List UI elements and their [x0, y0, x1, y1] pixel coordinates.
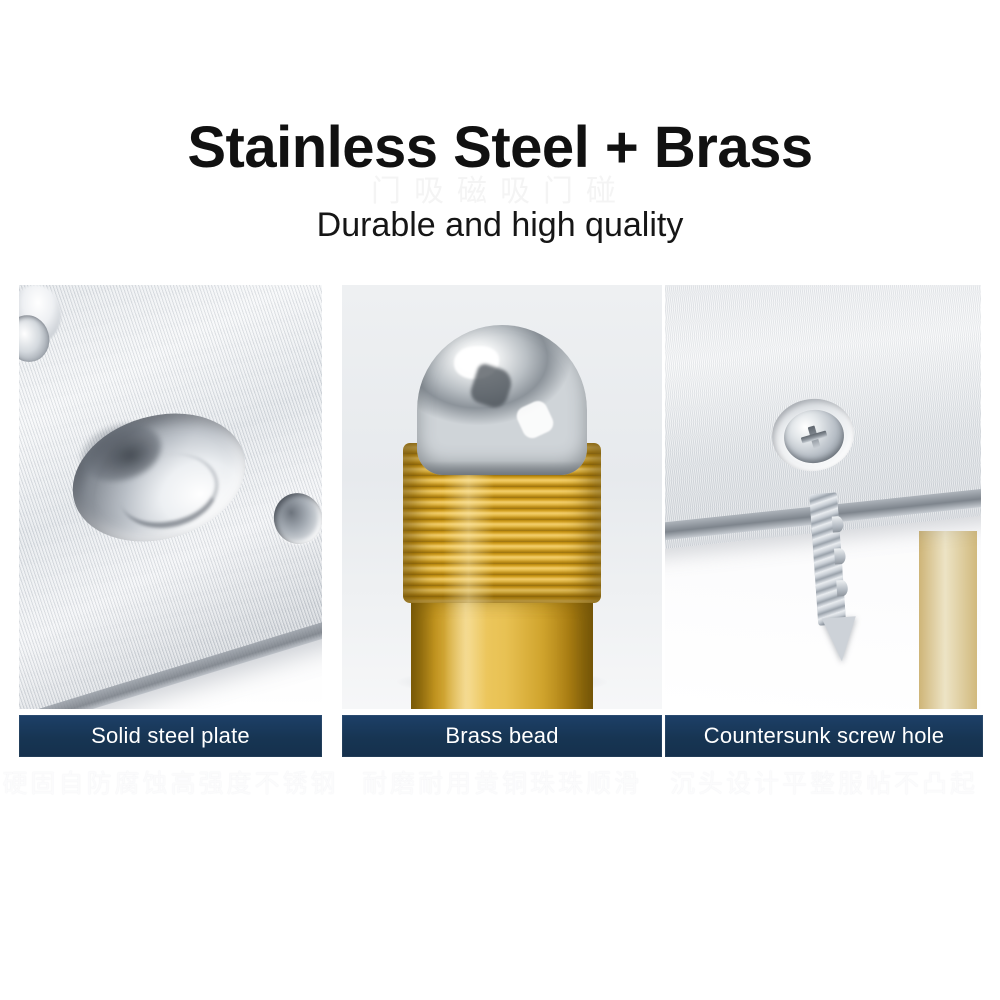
ball-secondary-highlight [514, 398, 557, 442]
ball-rim-shadow [417, 461, 587, 475]
caption-bar-solid-steel-plate: Solid steel plate [19, 715, 322, 757]
caption-label: Brass bead [445, 723, 558, 749]
product-infographic: 门吸磁吸门碰 Stainless Steel + Brass Durable a… [0, 0, 1000, 1000]
caption-bar-brass-bead: Brass bead [342, 715, 662, 757]
watermark-row: 硬固自防腐蚀高强度不锈钢 耐磨耐用黄铜珠珠顺滑 沉头设计平整服帖不凸起 [0, 762, 1000, 802]
watermark-text-right: 沉头设计平整服帖不凸起 [665, 762, 983, 802]
caption-bar-countersunk-screw-hole: Countersunk screw hole [665, 715, 983, 757]
caption-label: Countersunk screw hole [704, 723, 944, 749]
screw-thread-flight [832, 515, 844, 532]
title-block: 门吸磁吸门碰 Stainless Steel + Brass [0, 118, 1000, 179]
phillips-cross-slot [780, 406, 847, 467]
collar-gloss [444, 595, 488, 709]
screw-thread-flight [834, 548, 846, 565]
header: 门吸磁吸门碰 Stainless Steel + Brass Durable a… [0, 0, 1000, 283]
feature-panel-brass-bead [342, 285, 662, 709]
watermark-text-center: 耐磨耐用黄铜珠珠顺滑 [342, 762, 662, 802]
subtitle-block: Durable and high quality [0, 206, 1000, 245]
brass-ball-catch [403, 325, 601, 673]
caption-bar-row: Solid steel plate Brass bead Countersunk… [0, 715, 1000, 757]
caption-label: Solid steel plate [91, 723, 250, 749]
photo-brass-bead [342, 285, 662, 709]
watermark-text-left: 硬固自防腐蚀高强度不锈钢 [19, 762, 322, 802]
feature-panel-countersunk-screw-hole [665, 285, 981, 709]
brass-body-lower [919, 531, 977, 709]
screw-tip [822, 616, 859, 662]
brass-collar [411, 595, 593, 709]
photo-countersunk-screw-hole [665, 285, 981, 709]
photo-solid-steel-plate [19, 285, 322, 709]
screw-thread-flight [837, 580, 849, 597]
feature-photo-row [0, 285, 1000, 709]
page-subtitle: Durable and high quality [0, 206, 1000, 245]
page-title: Stainless Steel + Brass [0, 118, 1000, 179]
countersunk-screw-head [780, 406, 847, 467]
feature-panel-solid-steel-plate [19, 285, 322, 709]
chrome-ball-bearing [417, 325, 587, 475]
